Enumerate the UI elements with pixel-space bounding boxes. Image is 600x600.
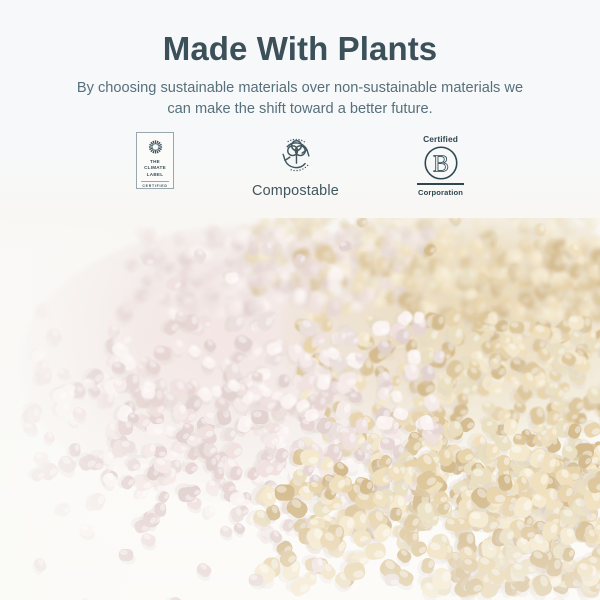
subtitle: By choosing sustainable materials over n… <box>65 69 535 121</box>
page-title: Made With Plants <box>0 0 600 69</box>
climate-label-words: THE CLIMATE LABEL <box>144 159 166 179</box>
subtitle-line-1: By choosing sustainable materials over n… <box>77 80 437 96</box>
made-with-plants-promo-card: Made With Plants By choosing sustainable… <box>0 0 600 600</box>
badge-compostable[interactable]: Compostable <box>252 132 339 199</box>
climate-label-certified-text: CERTIFIED <box>141 181 169 188</box>
climate-label-frame: THE CLIMATE LABEL CERTIFIED <box>136 132 174 189</box>
badge-climate-label[interactable]: THE CLIMATE LABEL CERTIFIED <box>136 132 174 189</box>
badge-b-corp[interactable]: Certified B Corporation <box>417 132 464 197</box>
climate-label-line-3: LABEL <box>144 172 166 179</box>
sunburst-icon <box>142 137 169 157</box>
compostable-clover-arrows-icon <box>273 132 319 178</box>
b-corp-divider <box>417 183 464 185</box>
compostable-label: Compostable <box>252 183 339 199</box>
b-corp-corporation-text: Corporation <box>418 188 463 197</box>
b-corp-certified-text: Certified <box>423 134 458 144</box>
certification-badge-row: THE CLIMATE LABEL CERTIFIED <box>0 132 600 210</box>
b-corp-icon: B <box>423 145 459 181</box>
